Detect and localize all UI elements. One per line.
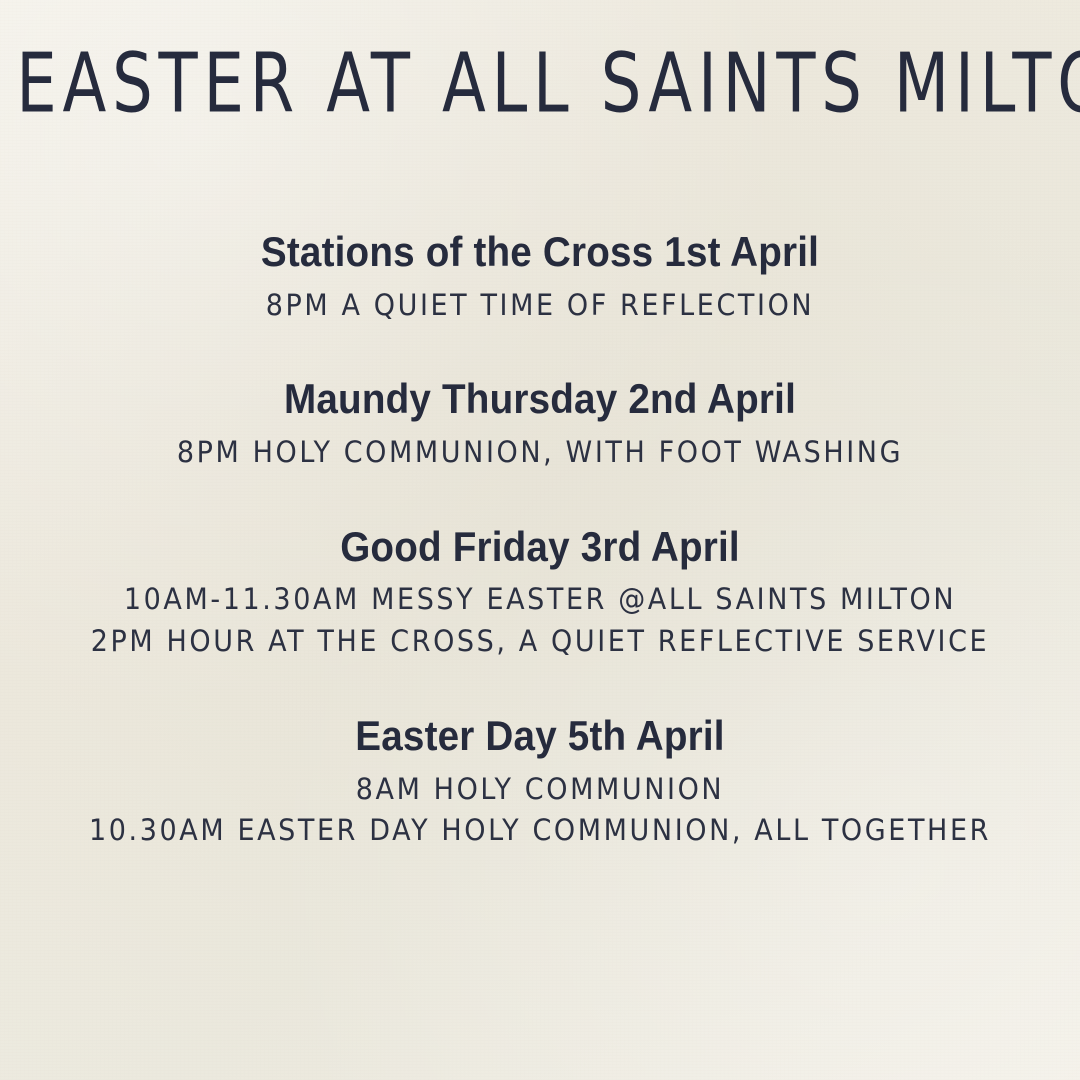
event-heading: Easter Day 5th April (43, 711, 1037, 761)
event-detail-line: 8PM A QUIET TIME OF REFLECTION (0, 282, 1080, 328)
easter-poster: EASTER AT ALL SAINTS MILTON Stations of … (0, 0, 1080, 1080)
event-detail-line: 10.30AM EASTER DAY HOLY COMMUNION, ALL T… (0, 808, 1080, 854)
page-title: EASTER AT ALL SAINTS MILTON (16, 36, 1064, 131)
event-heading: Good Friday 3rd April (43, 522, 1037, 572)
event-detail-line: 8AM HOLY COMMUNION (0, 766, 1080, 812)
event-detail-line: 10AM-11.30AM MESSY EASTER @ALL SAINTS MI… (0, 577, 1080, 623)
event-detail-line: 2PM HOUR AT THE CROSS, A QUIET REFLECTIV… (0, 619, 1080, 665)
event-detail-line: 8PM HOLY COMMUNION, WITH FOOT WASHING (0, 430, 1080, 476)
event-maundy-thursday: Maundy Thursday 2nd April 8PM HOLY COMMU… (0, 374, 1080, 473)
events-list: Stations of the Cross 1st April 8PM A QU… (0, 227, 1080, 852)
event-heading: Stations of the Cross 1st April (43, 227, 1037, 277)
event-easter-day: Easter Day 5th April 8AM HOLY COMMUNION … (0, 711, 1080, 852)
event-heading: Maundy Thursday 2nd April (43, 374, 1037, 424)
event-stations-of-the-cross: Stations of the Cross 1st April 8PM A QU… (0, 227, 1080, 326)
event-good-friday: Good Friday 3rd April 10AM-11.30AM MESSY… (0, 522, 1080, 663)
